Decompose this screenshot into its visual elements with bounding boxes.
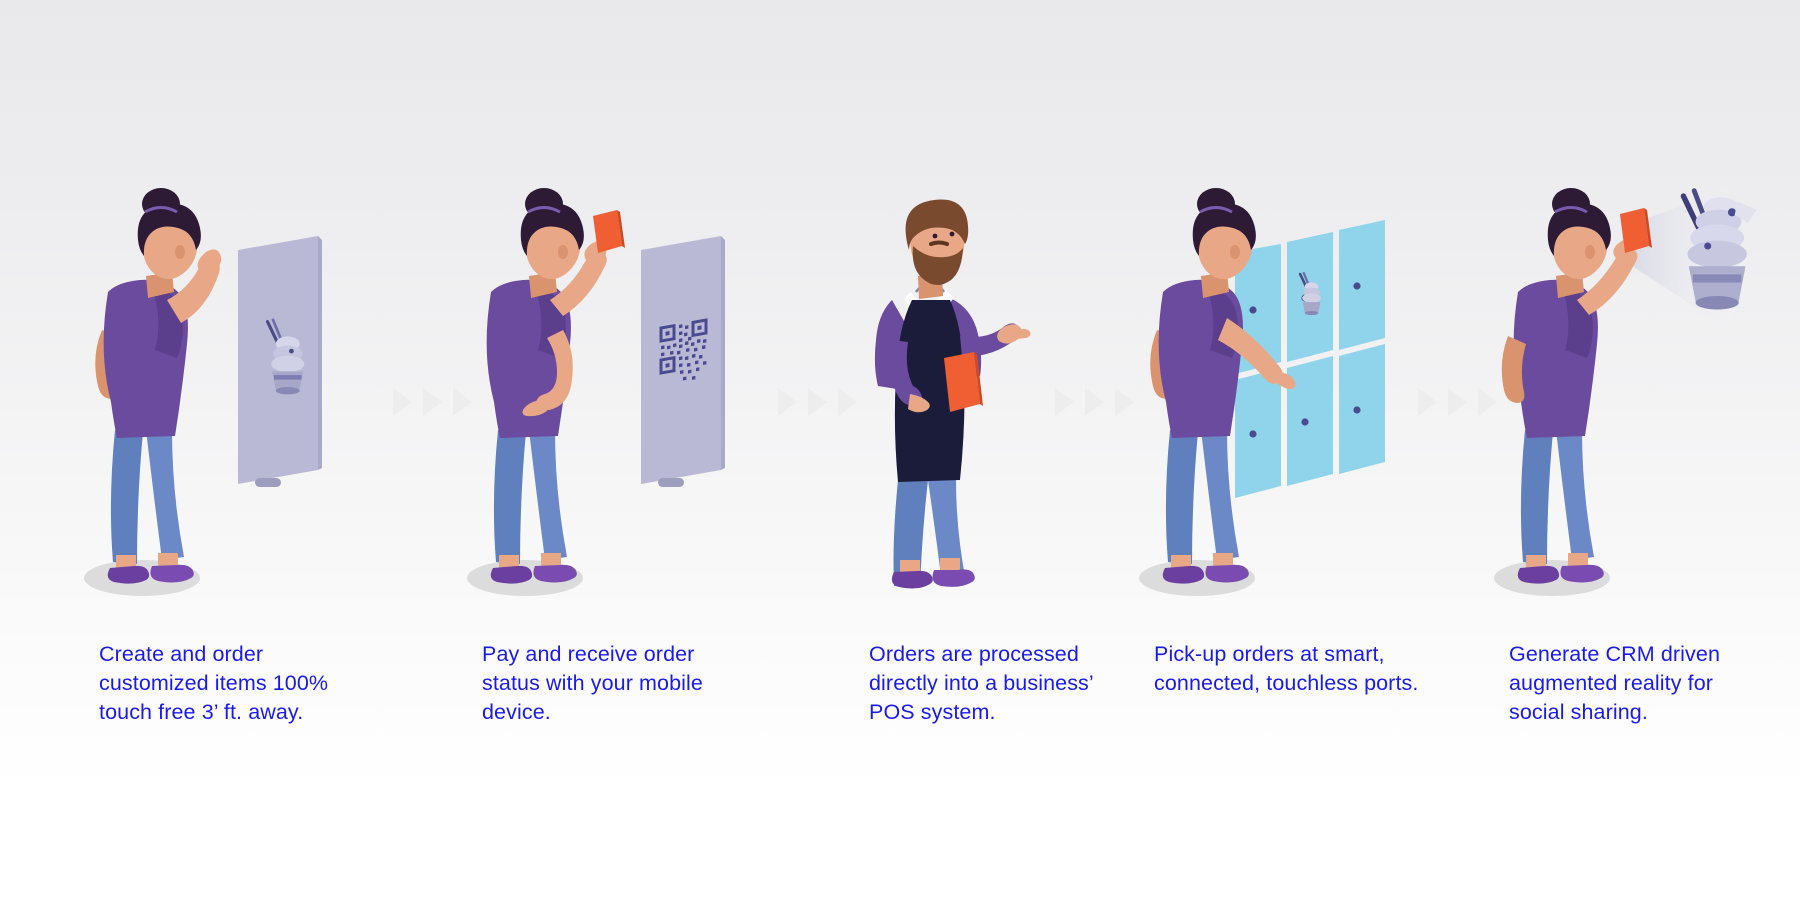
- step-4: Pick-up orders at smart, connected, touc…: [1085, 0, 1445, 900]
- step-caption: Pay and receive order status with your m…: [482, 640, 703, 728]
- mobile-phone[interactable]: [1620, 208, 1652, 253]
- chevron-right-icon: [393, 388, 412, 416]
- barista-with-tablet: [875, 200, 1031, 589]
- step-caption: Create and order customized items 100% t…: [99, 640, 328, 728]
- panel-stand: [658, 478, 684, 487]
- infographic-canvas: Create and order customized items 100% t…: [0, 0, 1800, 900]
- woman-with-ar-phone: [1502, 188, 1652, 584]
- locker-indicator-icon: [1353, 282, 1360, 289]
- kiosk-stand: [255, 478, 281, 487]
- locker-indicator-icon: [1353, 406, 1360, 413]
- augmented-reality-scene: [1440, 0, 1800, 640]
- woman-reaching-at-kiosk: [95, 188, 221, 584]
- step-2: Pay and receive order status with your m…: [413, 0, 773, 900]
- qr-code-panel[interactable]: [641, 236, 725, 487]
- woman-holding-phone: [487, 188, 625, 584]
- mobile-phone[interactable]: [593, 210, 625, 253]
- locker-indicator-icon: [1249, 306, 1256, 313]
- locker-indicator-icon: [1249, 430, 1256, 437]
- mobile-payment-scene: [413, 0, 773, 640]
- step-1: Create and order customized items 100% t…: [30, 0, 390, 900]
- chevron-right-icon: [1055, 388, 1074, 416]
- order-kiosk-illustration: [30, 0, 390, 640]
- step-caption: Generate CRM driven augmented reality fo…: [1509, 640, 1720, 728]
- locker-door[interactable]: [1287, 232, 1333, 362]
- order-kiosk-scene: [30, 0, 390, 640]
- locker-door[interactable]: [1287, 356, 1333, 486]
- mobile-payment-illustration: [413, 0, 773, 640]
- chevron-right-icon: [778, 388, 797, 416]
- locker-door[interactable]: [1339, 344, 1385, 474]
- chevron-right-icon: [1418, 388, 1437, 416]
- step-caption: Pick-up orders at smart, connected, touc…: [1154, 640, 1418, 698]
- locker-indicator-icon: [1301, 418, 1308, 425]
- locker-door[interactable]: [1339, 220, 1385, 350]
- step-5: Generate CRM driven augmented reality fo…: [1440, 0, 1800, 900]
- pickup-lockers-illustration: [1085, 0, 1465, 640]
- step-caption: Orders are processed directly into a bus…: [869, 640, 1094, 728]
- augmented-reality-illustration: [1440, 0, 1800, 640]
- tablet-device[interactable]: [944, 352, 983, 412]
- locker-door[interactable]: [1235, 368, 1281, 498]
- pickup-lockers-scene: [1085, 0, 1445, 640]
